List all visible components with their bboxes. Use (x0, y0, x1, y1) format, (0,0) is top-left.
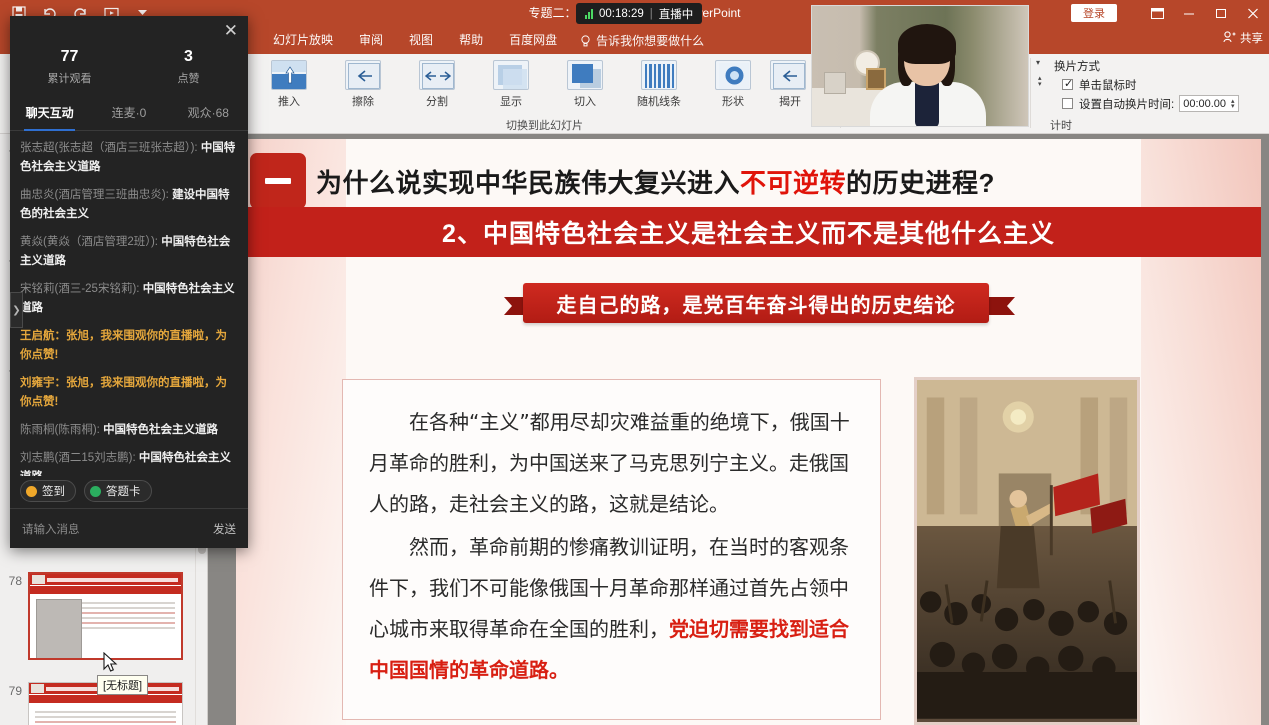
chat-collapse-handle[interactable]: ❯ (10, 292, 23, 328)
chat-message-list[interactable]: 张志超(张志超（酒店三班张志超）): 中国特色社会主义道路 曲忠炎(酒店管理三班… (10, 131, 248, 476)
body-highlight-tail: 。 (549, 658, 569, 682)
slide-heading: 为什么说实现中华民族伟大复兴进入不可逆转的历史进程? (250, 153, 995, 209)
transition-group-caption: 切换到此幻灯片 (252, 117, 837, 133)
shape-transition-icon (715, 60, 751, 90)
heading-prefix: 为什么说实现中华民族伟大复兴进入 (316, 168, 740, 198)
live-timer: 00:18:29 (599, 8, 644, 20)
stat-value: 3 (129, 48, 248, 66)
slide-tooltip: [无标题] (97, 675, 148, 695)
chat-sender: 宋铭莉(酒三-25宋铭莉): (20, 283, 139, 295)
chat-message-system: 王启航：张旭，我来围观你的直播啦，为你点赞! (20, 327, 238, 365)
live-status-label: 直播中 (659, 6, 694, 22)
banner-tail-right (989, 297, 1015, 315)
share-label: 共享 (1240, 30, 1263, 46)
transition-label: 分割 (400, 93, 474, 109)
webcam-person-collar (915, 82, 939, 127)
share-person-icon (1223, 31, 1236, 46)
chat-close-icon[interactable]: ✕ (224, 22, 238, 40)
live-chat-panel[interactable]: ✕ 77 累计观看 3 点赞 聊天互动 连麦·0 观众·68 张志超(张志超（酒… (10, 16, 248, 548)
chat-message: 刘志鹏(酒二15刘志鹏): 中国特色社会主义道路 (20, 449, 238, 476)
transition-label: 揭开 (770, 93, 810, 109)
reveal-transition-icon (493, 60, 529, 90)
stat-total-viewers: 77 累计观看 (10, 48, 129, 86)
auto-advance-time-input[interactable]: 00:00.00 ▴▾ (1179, 95, 1238, 112)
chat-sender: 刘志鹏(酒二15刘志鹏): (20, 452, 136, 464)
chat-input-placeholder[interactable]: 请输入消息 (22, 521, 80, 537)
transition-shape[interactable]: 形状 (696, 60, 770, 109)
on-click-checkbox[interactable] (1062, 79, 1073, 90)
minimize-icon[interactable] (1173, 0, 1205, 26)
lenin-speech-painting-icon (917, 380, 1137, 719)
slide-text-card: 在各种“主义”都用尽却灾难益重的绝境下，俄国十月革命的胜利，为中国送来了马克思列… (342, 379, 881, 720)
random-bars-transition-icon (641, 60, 677, 90)
chat-message: 张志超(张志超（酒店三班张志超）): 中国特色社会主义道路 (20, 139, 238, 177)
chat-sender: 陈雨桐(陈雨桐): (20, 424, 100, 436)
chat-sender: 曲忠炎(酒店管理三班曲忠炎): (20, 189, 169, 201)
chat-tabs: 聊天互动 连麦·0 观众·68 (10, 96, 248, 131)
heading-highlight: 不可逆转 (740, 168, 846, 198)
checkin-icon (26, 486, 37, 497)
signal-icon (585, 9, 593, 19)
slide-body-paragraph-1: 在各种“主义”都用尽却灾难益重的绝境下，俄国十月革命的胜利，为中国送来了马克思列… (369, 402, 854, 525)
quiz-card-chip[interactable]: 答题卡 (84, 480, 152, 502)
webcam-person-hair (898, 24, 956, 64)
tab-view[interactable]: 视图 (396, 26, 446, 54)
split-transition-icon (419, 60, 455, 90)
tab-review[interactable]: 审阅 (346, 26, 396, 54)
slide-stage: 为什么说实现中华民族伟大复兴进入不可逆转的历史进程? 2、中国特色社会主义是社会… (208, 134, 1269, 725)
stat-value: 77 (10, 48, 129, 66)
auto-advance-row[interactable]: 设置自动换片时间: 00:00.00 ▴▾ (1036, 94, 1269, 113)
chat-message: 宋铭莉(酒三-25宋铭莉): 中国特色社会主义道路 (20, 280, 238, 318)
tab-audience[interactable]: 观众·68 (169, 96, 248, 130)
tab-help[interactable]: 帮助 (446, 26, 496, 54)
transition-uncover[interactable]: 揭开 (770, 60, 810, 109)
cut-in-transition-icon (567, 60, 603, 90)
chat-text: 中国特色社会主义道路 (103, 424, 218, 436)
slide-preview-selected[interactable] (28, 572, 183, 660)
transition-wipe[interactable]: 擦除 (326, 60, 400, 109)
slide-picture[interactable] (914, 377, 1140, 725)
stat-label: 点赞 (129, 70, 248, 86)
tab-slideshow[interactable]: 幻灯片放映 (260, 26, 346, 54)
tell-me-box[interactable]: 告诉我你想要做什么 (570, 32, 714, 49)
transition-label: 随机线条 (622, 93, 696, 109)
tab-mic-queue[interactable]: 连麦·0 (89, 96, 168, 130)
maximize-icon[interactable] (1205, 0, 1237, 26)
chat-sender: 黄焱(黄焱（酒店管理2班）): (20, 236, 158, 248)
chat-message: 曲忠炎(酒店管理三班曲忠炎): 建设中国特色的社会主义 (20, 186, 238, 224)
slide-number: 78 (0, 572, 28, 588)
chat-sender: 张志超(张志超（酒店三班张志超）): (20, 142, 198, 154)
live-divider: | (650, 8, 653, 20)
chat-input-row[interactable]: 请输入消息 发送 (10, 508, 248, 548)
chat-action-chips: 签到 答题卡 (10, 476, 248, 508)
webcam-picture-frame-2 (824, 72, 846, 94)
transition-split[interactable]: 分割 (400, 60, 474, 109)
tell-me-label: 告诉我你想要做什么 (596, 32, 704, 49)
ribbon-display-options-icon[interactable] (1141, 0, 1173, 26)
transition-label: 切入 (548, 93, 622, 109)
tab-chat[interactable]: 聊天互动 (10, 96, 89, 130)
window-controls (1141, 0, 1269, 26)
timing-group-caption: 计时 (1050, 117, 1072, 133)
wipe-transition-icon (345, 60, 381, 90)
thumbnail-item[interactable]: 78 (0, 572, 208, 660)
slide-banner: 走自己的路，是党百年奋斗得出的历史结论 (523, 283, 989, 323)
tab-baidu-netdisk[interactable]: 百度网盘 (496, 26, 570, 54)
push-transition-icon (271, 60, 307, 90)
transition-push[interactable]: 推入 (252, 60, 326, 109)
quiz-card-icon (90, 486, 101, 497)
chat-message-system: 刘雍宇：张旭，我来围观你的直播啦，为你点赞! (20, 374, 238, 412)
auto-advance-spinner-icon[interactable]: ▴▾ (1231, 99, 1235, 109)
powerpoint-window: 专题二：坚持和发展 务 - PowerPoint 00:18:29 | 直播中 … (0, 0, 1269, 725)
transition-random-bars[interactable]: 随机线条 (622, 60, 696, 109)
send-button[interactable]: 发送 (213, 521, 236, 537)
chat-message: 陈雨桐(陈雨桐): 中国特色社会主义道路 (20, 421, 238, 440)
checkin-label: 签到 (42, 483, 65, 499)
heading-suffix: 的历史进程? (846, 168, 995, 198)
uncover-transition-icon (770, 60, 806, 90)
slide-body-paragraph-2: 然而，革命前期的惨痛教训证明，在当时的客观条件下，我们不可能像俄国十月革命那样通… (369, 527, 854, 691)
stat-likes: 3 点赞 (129, 48, 248, 86)
transition-label: 形状 (696, 93, 770, 109)
stat-label: 累计观看 (10, 70, 129, 86)
close-icon[interactable] (1237, 0, 1269, 26)
slide-subtitle: 2、中国特色社会主义是社会主义而不是其他什么主义 (236, 207, 1261, 257)
chat-message: 黄焱(黄焱（酒店管理2班）): 中国特色社会主义道路 (20, 233, 238, 271)
on-click-label: 单击鼠标时 (1079, 77, 1137, 93)
auto-advance-label: 设置自动换片时间: (1079, 96, 1174, 112)
share-button[interactable]: 共享 (1223, 30, 1263, 46)
transition-label: 擦除 (326, 93, 400, 109)
quiz-card-label: 答题卡 (106, 483, 141, 499)
live-status-pill: 00:18:29 | 直播中 (576, 3, 702, 24)
webcam-video-overlay[interactable] (811, 5, 1029, 127)
mouse-cursor-icon (103, 652, 118, 676)
auto-advance-checkbox[interactable] (1062, 98, 1073, 109)
slide-number: 79 (0, 682, 28, 698)
heading-badge-icon (250, 153, 306, 209)
login-button[interactable]: 登录 (1071, 4, 1117, 22)
transition-reveal[interactable]: 显示 (474, 60, 548, 109)
advance-on-click-row[interactable]: 单击鼠标时 (1036, 75, 1269, 94)
webcam-picture-frame (866, 68, 886, 90)
current-slide[interactable]: 为什么说实现中华民族伟大复兴进入不可逆转的历史进程? 2、中国特色社会主义是社会… (236, 139, 1261, 725)
lightbulb-icon (580, 35, 591, 46)
chat-stats: 77 累计观看 3 点赞 (10, 16, 248, 92)
checkin-chip[interactable]: 签到 (20, 480, 76, 502)
advance-slide-title: 换片方式 (1036, 56, 1269, 75)
transition-label: 显示 (474, 93, 548, 109)
transition-cut-in[interactable]: 切入 (548, 60, 622, 109)
transition-label: 推入 (252, 93, 326, 109)
